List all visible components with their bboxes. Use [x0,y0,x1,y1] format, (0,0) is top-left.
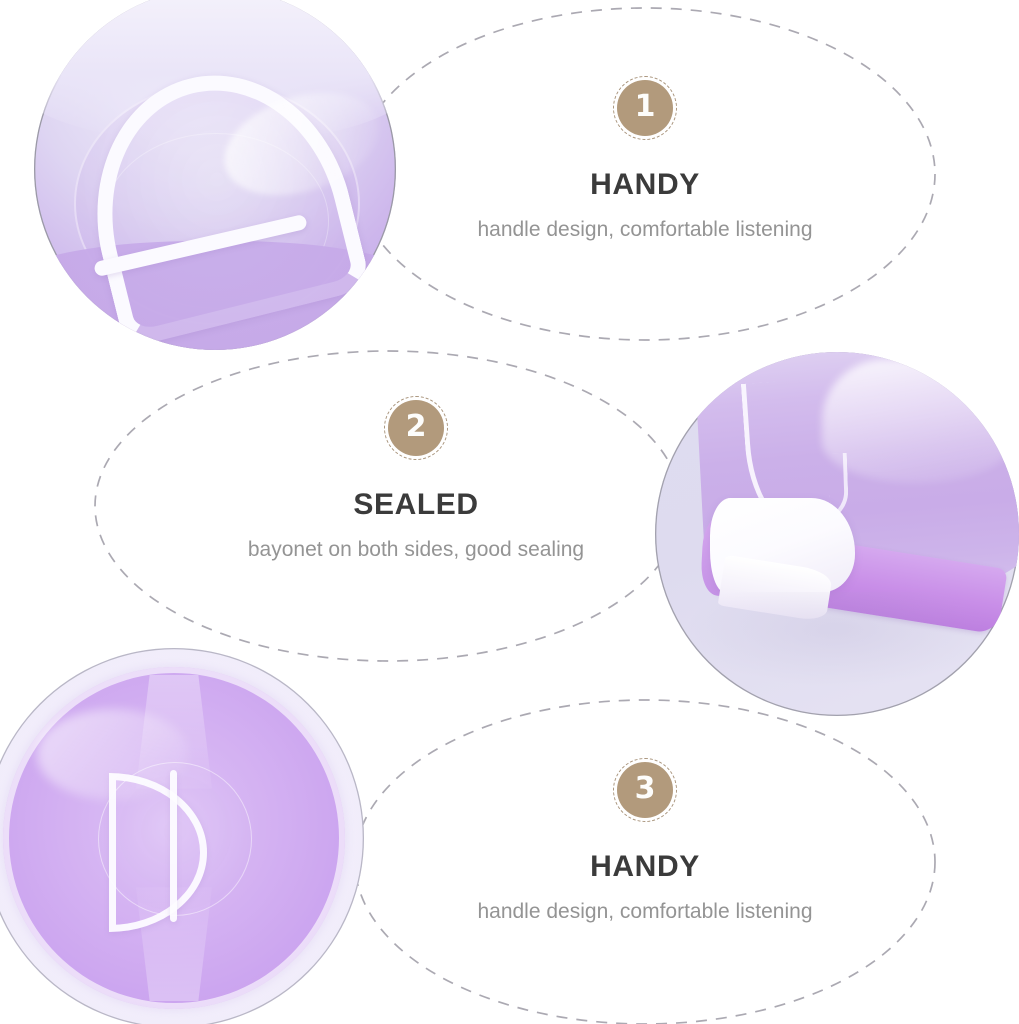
feature-block-1: 1 HANDY handle design, comfortable liste… [425,80,865,241]
feature-subtitle-1: handle design, comfortable listening [425,218,865,241]
product-photo-bayonet-latch-closeup [655,352,1019,716]
product-photo-lid-top-view-with-arch-handle [34,0,396,350]
surface-shadow [684,592,990,687]
feature-subtitle-2: bayonet on both sides, good sealing [196,538,636,561]
feature-block-2: 2 SEALED bayonet on both sides, good sea… [196,400,636,561]
feature-title-2: SEALED [196,490,636,520]
step-badge-3: 3 [617,762,673,818]
feature-title-1: HANDY [425,170,865,200]
step-badge-2: 2 [388,400,444,456]
feature-title-3: HANDY [425,852,865,882]
step-number-2: 2 [406,412,427,442]
feature-block-3: 3 HANDY handle design, comfortable liste… [425,762,865,923]
step-number-1: 1 [635,92,656,122]
white-half-moon-handle-bar [170,770,177,922]
step-number-3: 3 [635,774,656,804]
container-body-highlight [822,359,1011,483]
feature-subtitle-3: handle design, comfortable listening [425,900,865,923]
product-photo-lid-top-view-with-half-moon-handle [0,648,364,1024]
infographic-canvas: 1 HANDY handle design, comfortable liste… [0,0,1019,1024]
step-badge-1: 1 [617,80,673,136]
lid-highlight [37,709,189,800]
